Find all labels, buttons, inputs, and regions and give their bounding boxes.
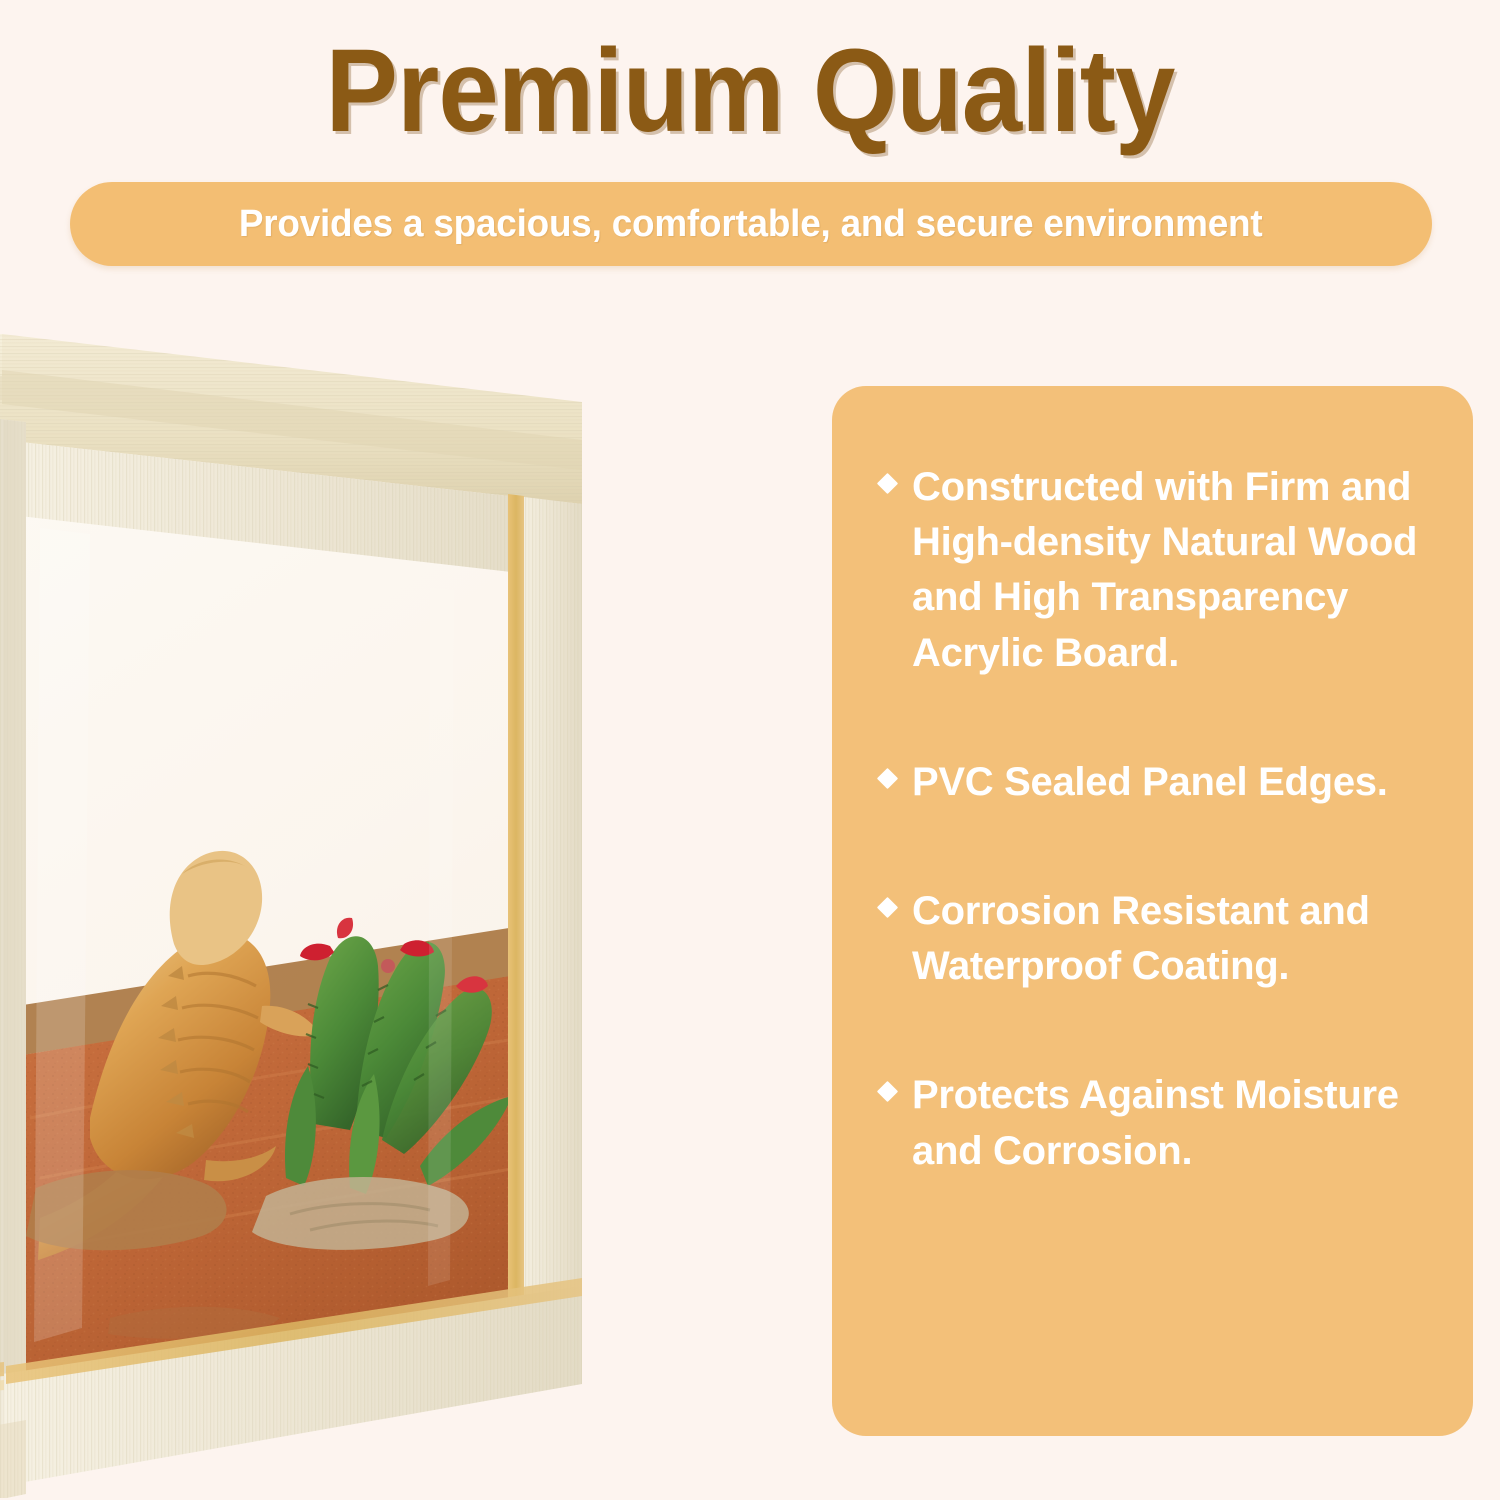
diamond-bullet-icon bbox=[877, 1081, 898, 1102]
subtitle-text: Provides a spacious, comfortable, and se… bbox=[239, 203, 1263, 246]
product-photo-terrarium bbox=[0, 318, 730, 1498]
frame-right-post bbox=[508, 494, 582, 1332]
list-item: Protects Against Moisture and Corrosion. bbox=[880, 1068, 1429, 1178]
terrarium-illustration bbox=[0, 318, 730, 1498]
feature-bullet-list: Constructed with Firm and High-density N… bbox=[880, 460, 1429, 1179]
subtitle-banner: Provides a spacious, comfortable, and se… bbox=[70, 182, 1432, 266]
list-item: Corrosion Resistant and Waterproof Coati… bbox=[880, 884, 1429, 994]
diamond-bullet-icon bbox=[877, 473, 898, 494]
product-feature-page: Premium Quality Provides a spacious, com… bbox=[0, 0, 1500, 1500]
feature-bullet-text: PVC Sealed Panel Edges. bbox=[912, 755, 1388, 810]
frame-corner-post bbox=[0, 414, 26, 1446]
feature-bullet-text: Corrosion Resistant and Waterproof Coati… bbox=[912, 884, 1429, 994]
list-item: PVC Sealed Panel Edges. bbox=[880, 755, 1429, 810]
list-item: Constructed with Firm and High-density N… bbox=[880, 460, 1429, 681]
frame-base-foot bbox=[0, 1420, 26, 1498]
diamond-bullet-icon bbox=[877, 897, 898, 918]
diamond-bullet-icon bbox=[877, 768, 898, 789]
feature-panel: Constructed with Firm and High-density N… bbox=[832, 386, 1473, 1436]
feature-bullet-text: Constructed with Firm and High-density N… bbox=[912, 460, 1429, 681]
page-title: Premium Quality bbox=[60, 28, 1440, 155]
feature-bullet-text: Protects Against Moisture and Corrosion. bbox=[912, 1068, 1429, 1178]
